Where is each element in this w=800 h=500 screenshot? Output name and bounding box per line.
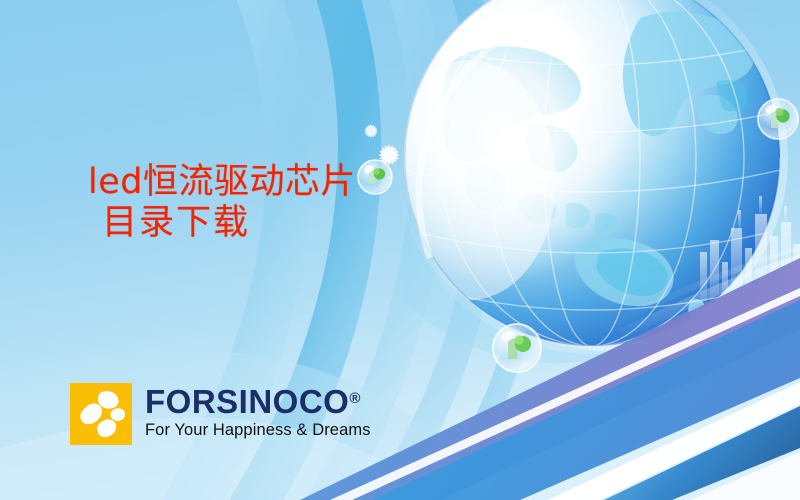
banner-canvas: led恒流驱动芯片 目录下载 FORSINOCO® For Your Happi…: [0, 0, 800, 500]
brand-wordmark: FORSINOCO®: [145, 385, 371, 418]
wordmark-text: FORSINOCO: [145, 383, 349, 420]
registered-trademark-icon: ®: [349, 390, 361, 407]
brand-tagline: For Your Happiness & Dreams: [145, 422, 371, 439]
forsinoco-pinwheel-icon: [70, 383, 132, 445]
brand-logo: FORSINOCO® For Your Happiness & Dreams: [70, 383, 371, 445]
headline-line-1: led恒流驱动芯片: [88, 162, 356, 203]
logo-text-block: FORSINOCO® For Your Happiness & Dreams: [145, 385, 371, 439]
headline-line-2: 目录下载: [88, 203, 356, 244]
headline-text: led恒流驱动芯片 目录下载: [88, 162, 356, 245]
